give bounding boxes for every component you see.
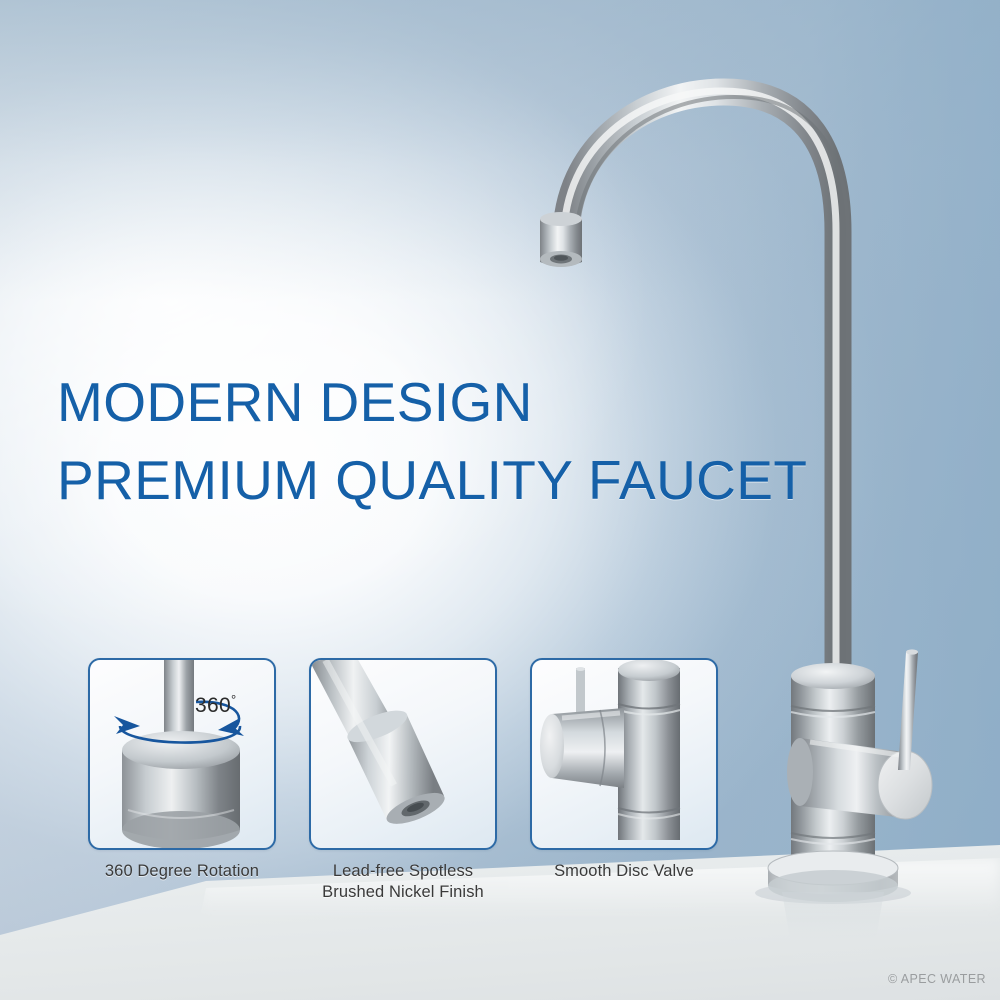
callout-rotation[interactable]: 360° 360 Degree Rotation xyxy=(88,658,276,882)
callout-finish[interactable]: Lead-free Spotless Brushed Nickel Finish xyxy=(309,658,497,903)
callout-finish-caption-line-1: Lead-free Spotless xyxy=(333,862,473,880)
callout-rotation-frame: 360° xyxy=(88,658,276,850)
feature-callout-row: 360° 360 Degree Rotation xyxy=(88,658,788,898)
callout-valve[interactable]: Smooth Disc Valve xyxy=(530,658,718,882)
callout-valve-caption-line-1: Smooth Disc Valve xyxy=(554,862,694,880)
spout-tip-icon xyxy=(311,660,495,848)
disc-valve-icon xyxy=(532,660,716,848)
callout-finish-caption: Lead-free Spotless Brushed Nickel Finish xyxy=(309,861,497,903)
product-banner: MODERN DESIGN PREMIUM QUALITY FAUCET xyxy=(0,0,1000,1000)
headline-line-2: PREMIUM QUALITY FAUCET xyxy=(57,447,817,513)
copyright-notice: © APEC WATER xyxy=(888,972,986,986)
callout-rotation-caption-line-1: 360 Degree Rotation xyxy=(105,862,259,880)
rotation-degree-value: 360 xyxy=(195,694,231,717)
callout-valve-caption: Smooth Disc Valve xyxy=(530,861,718,882)
callout-finish-frame xyxy=(309,658,497,850)
headline-line-1: MODERN DESIGN xyxy=(57,371,533,433)
callout-finish-caption-line-2: Brushed Nickel Finish xyxy=(322,883,484,901)
callout-rotation-caption: 360 Degree Rotation xyxy=(88,861,276,882)
page-title: MODERN DESIGN PREMIUM QUALITY FAUCET xyxy=(57,303,817,579)
rotation-degree-badge: 360° xyxy=(195,692,236,718)
rotation-base-icon xyxy=(90,660,274,848)
rotation-degree-unit: ° xyxy=(231,692,237,707)
callout-valve-frame xyxy=(530,658,718,850)
